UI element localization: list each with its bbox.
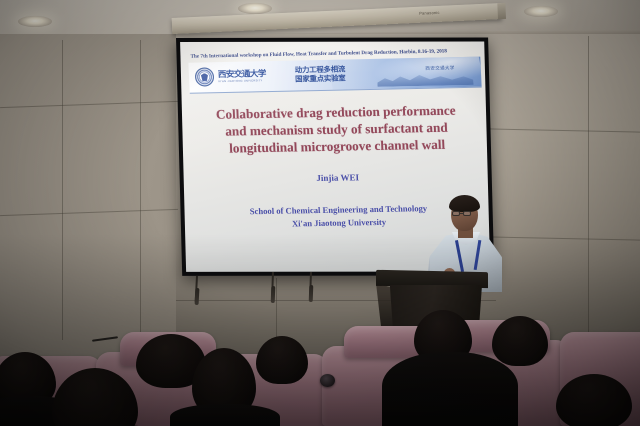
university-name-cn: 西安交通大学 (218, 67, 267, 80)
ceiling-downlight (524, 6, 558, 17)
projector-brand-label: Panasonic (419, 10, 440, 16)
slide-title: Collaborative drag reduction performance… (193, 101, 479, 157)
ceiling-downlight (18, 16, 52, 27)
screen-cable-weight (271, 286, 276, 303)
side-wall-left (0, 34, 176, 364)
seat-knob (320, 374, 335, 387)
speaker-hair (449, 195, 480, 212)
university-name-en: XI'AN JIAOTONG UNIVERSITY (218, 79, 262, 83)
slide-affiliation: School of Chemical Engineering and Techn… (196, 201, 481, 232)
wall-seam (62, 40, 63, 340)
wall-seam (588, 36, 589, 336)
slide-title-line3: longitudinal microgroove channel wall (195, 135, 480, 157)
screen-cable-weight (309, 285, 314, 302)
audience-head (256, 336, 308, 384)
lab-name-cn: 动力工程多相流国家重点实验室 (295, 65, 346, 84)
presentation-photo-scene: Panasonic The 7th International workshop… (0, 0, 640, 426)
banner-secondary-text: 西安交通大学 (425, 65, 455, 72)
audience-shoulders (170, 404, 280, 426)
wall-seam (140, 40, 141, 340)
screen-housing-cap (497, 3, 506, 19)
slide-author: Jinjia WEI (196, 170, 480, 185)
speaker-eyeglasses-lens (452, 211, 460, 216)
lab-name-line2: 国家重点实验室 (295, 73, 346, 83)
slide-banner: 西安交通大学 XI'AN JIAOTONG UNIVERSITY 动力工程多相流… (188, 57, 481, 94)
banner-wave-graphic (327, 57, 481, 94)
speaker-eyeglasses-bridge (460, 213, 463, 214)
university-seal-icon (195, 67, 215, 86)
audience-head (492, 316, 548, 366)
audience-shoulders (382, 352, 518, 426)
presentation-slide: The 7th International workshop on Fluid … (180, 41, 490, 271)
speaker-eyeglasses-lens (463, 211, 471, 216)
ceiling-downlight (238, 3, 272, 14)
